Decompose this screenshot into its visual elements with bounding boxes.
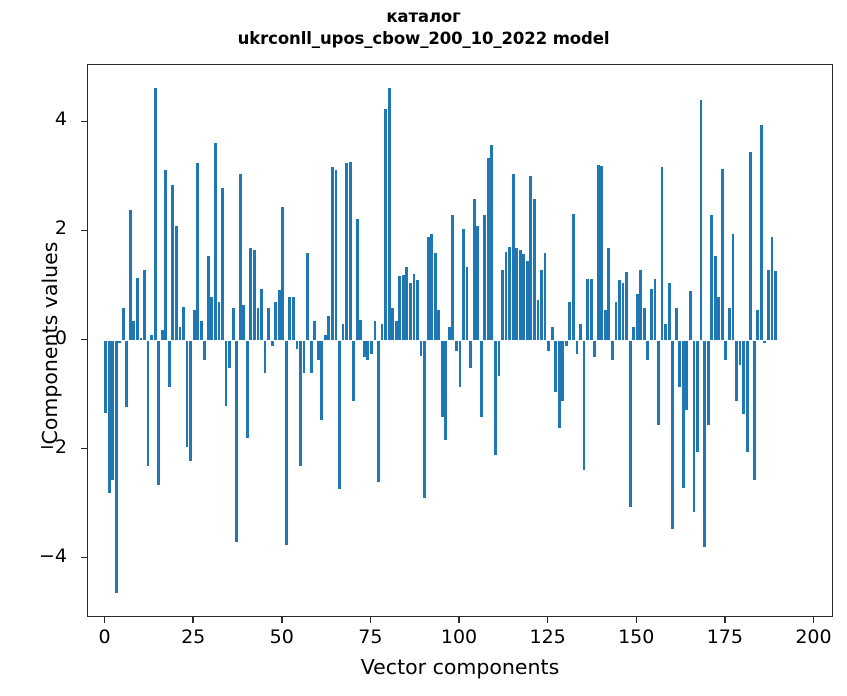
bar — [547, 341, 550, 352]
bar — [487, 158, 490, 341]
bar — [650, 289, 653, 341]
bar — [338, 341, 341, 489]
bar — [533, 199, 536, 341]
bar — [537, 300, 540, 341]
bar — [572, 214, 575, 341]
bar — [374, 321, 377, 340]
bar — [703, 341, 706, 547]
bar — [483, 215, 486, 340]
bar — [430, 234, 433, 340]
bar — [717, 297, 720, 341]
bar — [427, 237, 430, 341]
bar — [600, 166, 603, 341]
bar — [381, 324, 384, 340]
x-tick-mark — [281, 617, 282, 623]
bar — [285, 341, 288, 546]
x-tick-mark — [636, 617, 637, 623]
bar — [583, 341, 586, 471]
bar — [746, 341, 749, 453]
bar — [753, 341, 756, 480]
bar — [108, 341, 111, 494]
bar — [179, 327, 182, 341]
bar — [242, 305, 245, 340]
bar — [689, 291, 692, 340]
bar — [515, 248, 518, 341]
bar — [551, 327, 554, 341]
x-tick-label: 100 — [441, 626, 477, 648]
bar — [763, 341, 766, 344]
y-tick-mark — [81, 448, 87, 449]
bar — [622, 283, 625, 340]
bar — [696, 341, 699, 453]
bar — [366, 341, 369, 360]
bar — [349, 162, 352, 341]
bar — [654, 279, 657, 340]
bar — [391, 308, 394, 341]
bar — [388, 88, 391, 340]
bar — [157, 341, 160, 486]
bar — [643, 308, 646, 341]
bar — [451, 215, 454, 340]
bar — [657, 341, 660, 426]
bar — [444, 341, 447, 440]
x-tick-label: 200 — [795, 626, 831, 648]
bar — [469, 341, 472, 368]
bar — [274, 302, 277, 340]
y-tick-mark — [81, 121, 87, 122]
bar — [558, 341, 561, 428]
bar — [395, 321, 398, 340]
chart-title-line-1: каталог — [0, 6, 847, 28]
bar — [225, 341, 228, 406]
bar — [203, 341, 206, 360]
bar — [529, 176, 532, 341]
bar — [409, 283, 412, 340]
bar — [384, 109, 387, 341]
bar — [636, 294, 639, 340]
x-tick-label: 0 — [98, 626, 110, 648]
bar — [771, 237, 774, 341]
chart-title-line-2: ukrconll_upos_cbow_200_10_2022 model — [0, 28, 847, 50]
bar — [742, 341, 745, 415]
bar — [565, 341, 568, 346]
bar — [221, 188, 224, 341]
x-axis-label: Vector components — [87, 655, 833, 679]
bar — [402, 275, 405, 340]
bar — [189, 341, 192, 461]
bar — [271, 341, 274, 346]
bar — [331, 167, 334, 340]
bar — [413, 274, 416, 341]
bar — [462, 229, 465, 341]
bar — [140, 338, 143, 341]
bar — [129, 210, 132, 341]
x-tick-mark — [370, 617, 371, 623]
bar — [448, 327, 451, 341]
bar — [352, 341, 355, 401]
chart-title: каталог ukrconll_upos_cbow_200_10_2022 m… — [0, 6, 847, 50]
bar — [604, 310, 607, 340]
x-tick-label: 125 — [529, 626, 565, 648]
bar — [118, 341, 121, 344]
bar — [668, 283, 671, 340]
x-tick-mark — [104, 617, 105, 623]
bar — [455, 341, 458, 352]
bar — [576, 341, 579, 355]
plot-axes — [87, 64, 833, 617]
bar — [164, 170, 167, 340]
bar — [398, 276, 401, 340]
bar — [544, 253, 547, 340]
bar — [739, 341, 742, 366]
bar — [512, 174, 515, 340]
bar — [618, 280, 621, 340]
bar — [441, 341, 444, 417]
bar — [363, 341, 366, 357]
bar — [710, 215, 713, 340]
x-axis-ticks: 0255075100125150175200 — [87, 617, 833, 657]
bar — [278, 290, 281, 340]
bar — [597, 165, 600, 341]
bar — [175, 226, 178, 341]
bar — [437, 310, 440, 340]
bar — [625, 272, 628, 340]
bar — [540, 270, 543, 341]
bar — [508, 247, 511, 341]
bar — [593, 341, 596, 357]
bar — [246, 341, 249, 438]
x-tick-mark — [192, 617, 193, 623]
bar — [661, 167, 664, 340]
bar — [161, 330, 164, 341]
bar — [671, 341, 674, 529]
bar — [632, 327, 635, 341]
bar — [310, 341, 313, 374]
bar — [214, 143, 217, 340]
bar — [756, 310, 759, 340]
bar — [579, 324, 582, 340]
x-tick-mark — [724, 617, 725, 623]
bar — [682, 341, 685, 488]
bar — [749, 152, 752, 340]
bar — [171, 185, 174, 340]
bar — [732, 234, 735, 340]
bar — [480, 341, 483, 417]
x-tick-label: 25 — [181, 626, 205, 648]
y-tick-mark — [81, 557, 87, 558]
bar — [735, 341, 738, 401]
x-tick-mark — [547, 617, 548, 623]
bar — [685, 341, 688, 411]
bar — [526, 261, 529, 340]
bar — [767, 270, 770, 341]
bar — [150, 335, 153, 340]
bar — [359, 320, 362, 341]
bar — [416, 280, 419, 340]
bar — [561, 341, 564, 401]
bar — [377, 341, 380, 483]
bar — [639, 270, 642, 341]
x-tick-label: 150 — [618, 626, 654, 648]
bar — [147, 341, 150, 466]
bar — [239, 174, 242, 340]
bar — [111, 341, 114, 480]
bar — [303, 341, 306, 374]
bar — [264, 341, 267, 374]
bar — [714, 256, 717, 341]
bar — [434, 253, 437, 340]
bar — [501, 270, 504, 341]
bar — [182, 307, 185, 341]
y-axis-label: Components values — [38, 33, 62, 653]
bar — [228, 341, 231, 368]
bar — [774, 271, 777, 341]
bar — [629, 341, 632, 507]
bar — [568, 302, 571, 340]
bar — [707, 341, 710, 426]
bar — [296, 341, 299, 349]
x-tick-mark — [813, 617, 814, 623]
bar — [724, 341, 727, 360]
bar — [675, 308, 678, 341]
bar — [235, 341, 238, 543]
bar — [721, 169, 724, 341]
bar — [218, 302, 221, 340]
bar — [267, 308, 270, 341]
bar — [292, 297, 295, 341]
y-tick-mark — [81, 230, 87, 231]
bar — [728, 308, 731, 341]
bar — [186, 341, 189, 447]
bar — [420, 341, 423, 356]
bar — [476, 226, 479, 341]
bar — [335, 170, 338, 340]
bar — [168, 341, 171, 387]
bar — [196, 163, 199, 340]
x-tick-mark — [458, 617, 459, 623]
bar — [249, 248, 252, 341]
bar — [356, 219, 359, 340]
bar — [288, 297, 291, 341]
bar — [260, 289, 263, 341]
bar — [590, 279, 593, 340]
bar — [306, 253, 309, 340]
x-tick-label: 75 — [358, 626, 382, 648]
bar — [313, 321, 316, 340]
bar — [327, 316, 330, 341]
bar — [370, 341, 373, 355]
bar — [646, 341, 649, 360]
bar — [607, 248, 610, 341]
bar — [207, 256, 210, 341]
bar — [611, 341, 614, 360]
y-tick-mark — [81, 339, 87, 340]
bar — [154, 88, 157, 340]
bar — [122, 308, 125, 341]
bar — [678, 341, 681, 387]
bar — [345, 163, 348, 340]
bar — [498, 341, 501, 376]
bar — [253, 250, 256, 340]
bar — [317, 341, 320, 360]
bar — [586, 279, 589, 340]
bar — [505, 252, 508, 340]
bar — [320, 341, 323, 420]
bar — [423, 341, 426, 498]
bar — [200, 321, 203, 340]
bar — [324, 335, 327, 340]
bar — [136, 278, 139, 341]
bar — [519, 250, 522, 340]
bar — [466, 267, 469, 341]
bar — [405, 267, 408, 341]
x-tick-label: 50 — [270, 626, 294, 648]
bar — [473, 199, 476, 341]
figure-canvas: каталог ukrconll_upos_cbow_200_10_2022 m… — [0, 0, 847, 696]
bar — [554, 341, 557, 393]
bar — [494, 341, 497, 456]
bar — [125, 341, 128, 408]
bar — [299, 341, 302, 466]
bar — [490, 145, 493, 340]
bar — [522, 254, 525, 340]
x-tick-label: 175 — [707, 626, 743, 648]
bar — [700, 100, 703, 340]
bar — [342, 324, 345, 340]
bar — [104, 341, 107, 413]
bar — [115, 341, 118, 593]
bar — [193, 310, 196, 340]
bar — [459, 341, 462, 387]
bar — [132, 321, 135, 340]
bar — [257, 308, 260, 341]
bar — [664, 324, 667, 340]
bar — [760, 125, 763, 340]
bar — [693, 341, 696, 513]
bar — [210, 297, 213, 341]
bar — [232, 308, 235, 341]
bar — [615, 302, 618, 340]
bar — [281, 207, 284, 341]
bar-series-area — [88, 65, 832, 616]
bar — [143, 270, 146, 341]
